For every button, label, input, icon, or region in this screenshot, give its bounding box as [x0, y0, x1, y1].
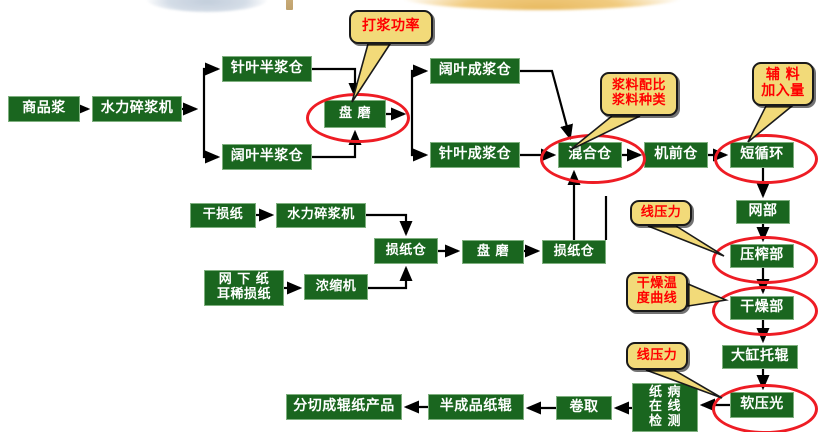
callout-tail: [748, 106, 792, 142]
parameter-callout[interactable]: 浆料配比 浆料种类: [600, 72, 678, 116]
parameter-callout-label: 线压力: [637, 349, 678, 364]
parameter-callout-label: 线压力: [641, 206, 682, 221]
callout-tail: [688, 284, 726, 306]
callout-tail: [648, 226, 724, 256]
parameter-callout-label: 干燥温 度曲线: [637, 277, 678, 306]
callout-tail: [646, 370, 722, 398]
flowchart-canvas: 商品浆水力碎浆机针叶半浆仓阔叶半浆仓盘 磨阔叶成浆仓针叶成浆仓混合仓机前仓短循环…: [0, 0, 824, 432]
callout-tail: [570, 116, 640, 150]
parameter-callout[interactable]: 线压力: [626, 342, 688, 370]
parameter-callout[interactable]: 辅 料 加入量: [752, 62, 814, 106]
parameter-callout-label: 辅 料 加入量: [761, 68, 805, 99]
parameter-callout[interactable]: 线压力: [630, 200, 692, 226]
parameter-callout[interactable]: 打浆功率: [349, 10, 433, 44]
parameter-callout[interactable]: 干燥温 度曲线: [626, 272, 688, 312]
parameter-callout-label: 浆料配比 浆料种类: [612, 79, 666, 108]
parameter-callout-label: 打浆功率: [362, 19, 420, 35]
callout-tail: [352, 44, 390, 102]
callout-tail-layer: [0, 0, 824, 432]
